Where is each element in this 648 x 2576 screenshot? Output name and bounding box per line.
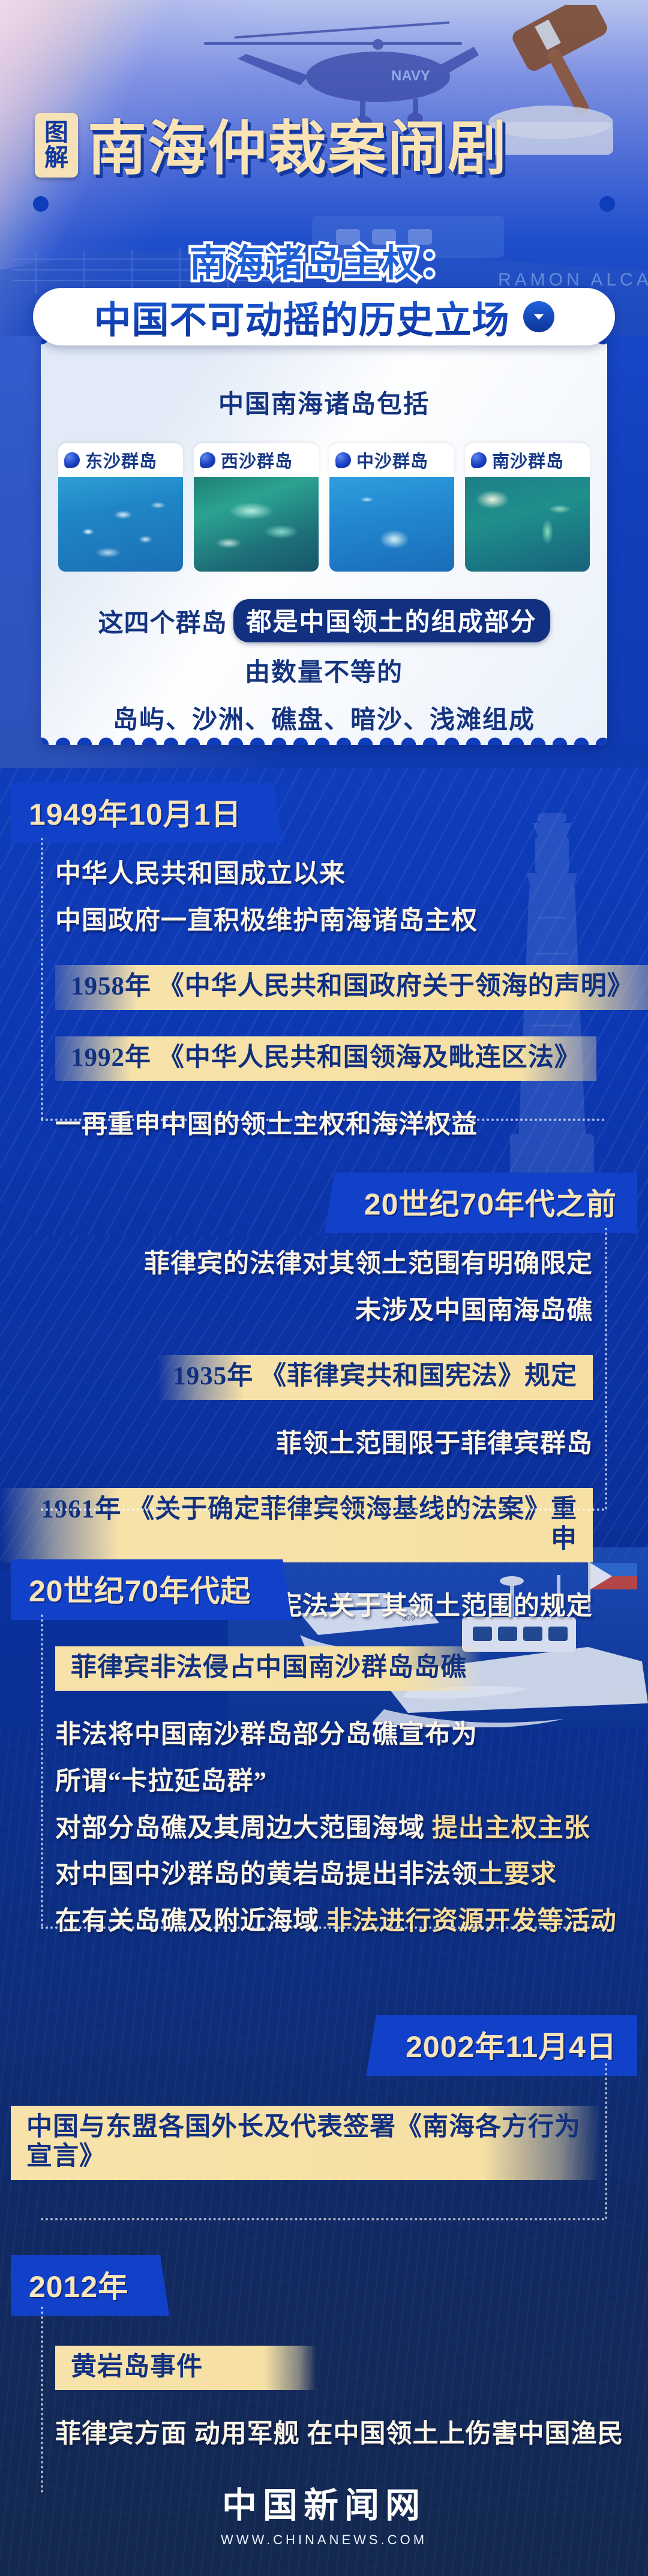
islands-card-heading: 中国南海诸岛包括: [41, 384, 607, 420]
timeline-date-badge: 2012年: [11, 2255, 149, 2316]
card-footer-plain: 这四个群岛: [98, 603, 227, 639]
island-item-zhongsha[interactable]: 中沙群岛: [329, 443, 454, 572]
map-pin-icon: [471, 452, 487, 468]
card-footer-line-3: 岛屿、沙洲、礁盘、暗沙、浅滩组成: [41, 699, 607, 736]
timeline-text: 菲律宾方面 动用军舰 在中国领土上伤害中国渔民: [55, 2419, 648, 2450]
timeline-text-accent: 提出主权主张: [425, 1814, 590, 1842]
subtitle-pill[interactable]: 中国不可动摇的历史立场: [33, 288, 615, 345]
island-label: 南沙群岛: [492, 447, 564, 473]
island-photo-nansha: [465, 477, 590, 572]
timeline-strip: 菲律宾非法侵占中国南沙群岛岛礁: [55, 1646, 482, 1691]
timeline-section-from1970s: 20世纪70年代起 菲律宾非法侵占中国南沙群岛岛礁 非法将中国南沙群岛部分岛礁宣…: [0, 1559, 648, 1952]
timeline-text: 在有关岛礁及附近海域 非法进行资源开发等活动: [55, 1906, 648, 1937]
timeline-connector-horizontal: [41, 1508, 605, 1511]
tujie-badge: 图 解: [35, 113, 78, 178]
chinanews-url: WWW.CHINANEWS.COM: [0, 2532, 648, 2548]
timeline-date-badge: 2002年11月4日: [388, 2015, 637, 2076]
subtitle-line-2: 中国不可动摇的历史立场: [94, 290, 509, 344]
map-pin-icon: [64, 452, 80, 468]
timeline-strip: 1961年 《关于确定菲律宾领海基线的法案》重申: [0, 1488, 593, 1562]
timeline-strip: 1992年 《中华人民共和国领海及毗连区法》: [55, 1036, 596, 1081]
timeline-text: 菲领土范围限于菲律宾群岛: [0, 1429, 593, 1460]
timeline-connector-horizontal: [41, 1926, 605, 1929]
island-photo-xisha: [194, 477, 319, 572]
island-item-xisha[interactable]: 西沙群岛: [194, 443, 319, 572]
timeline-section-1949: 1949年10月1日 中华人民共和国成立以来 中国政府一直积极维护南海诸岛主权 …: [0, 783, 648, 1156]
timeline-connector-vertical: [41, 838, 43, 1120]
island-photo-zhongsha: [329, 477, 454, 572]
island-item-nansha[interactable]: 南沙群岛: [465, 443, 590, 572]
chinanews-logo: 中国新闻网: [0, 2477, 648, 2527]
card-footer-line-2: 由数量不等的: [41, 652, 607, 689]
islands-card-footer: 这四个群岛 都是中国领土的组成部分 由数量不等的 岛屿、沙洲、礁盘、暗沙、浅滩组…: [41, 599, 607, 736]
card-notch-left: [33, 196, 49, 212]
timeline-text: 中国政府一直积极维护南海诸岛主权: [55, 906, 648, 937]
island-item-dongsha[interactable]: 东沙群岛: [58, 443, 183, 572]
timeline-strip: 1958年 《中华人民共和国政府关于领海的声明》: [55, 965, 648, 1009]
timeline-section-2002: 2002年11月4日 中国与东盟各国外长及代表签署《南海各方行为宣言》: [0, 2015, 648, 2193]
poster-title-row: 图 解 南海仲裁案闹剧: [35, 113, 508, 178]
timeline-date-badge: 1949年10月1日: [11, 783, 262, 843]
timeline-strip: 黄岩岛事件: [55, 2346, 317, 2390]
timeline-text: 一再重申中国的领土主权和海洋权益: [55, 1110, 648, 1141]
timeline-date-badge: 20世纪70年代之前: [346, 1173, 637, 1233]
site-footer: 中国新闻网 WWW.CHINANEWS.COM: [0, 2477, 648, 2548]
timeline-text: 所谓“卡拉延岛群”: [55, 1766, 648, 1798]
island-label: 西沙群岛: [221, 447, 293, 473]
timeline-text: 非法将中国南沙群岛部分岛礁宣布为: [55, 1720, 648, 1751]
timeline-text: 未涉及中国南海岛礁: [0, 1295, 593, 1327]
islands-card: 中国南海诸岛包括 东沙群岛 西沙群岛 中沙群岛: [41, 337, 607, 745]
timeline-connector-horizontal: [41, 2218, 605, 2220]
islands-row: 东沙群岛 西沙群岛 中沙群岛: [41, 443, 607, 572]
timeline-strip: 中国与东盟各国外长及代表签署《南海各方行为宣言》: [11, 2106, 601, 2180]
island-photo-dongsha: [58, 477, 183, 572]
timeline-text: 菲律宾的法律对其领土范围有明确限定: [0, 1249, 593, 1280]
timeline-connector-horizontal: [41, 1119, 605, 1121]
timeline-text-accent: 土要求: [478, 1860, 557, 1889]
timeline-strip: 1935年 《菲律宾共和国宪法》规定: [157, 1355, 593, 1399]
card-footer-highlight: 都是中国领土的组成部分: [233, 599, 550, 642]
subtitle-line-1: 南海诸岛主权：: [0, 233, 648, 287]
timeline-text-accent: 非法进行资源开发等活动: [326, 1907, 617, 1935]
timeline-date-badge: 20世纪70年代起: [11, 1559, 271, 1620]
timeline-connector-vertical: [41, 2307, 43, 2493]
map-pin-icon: [335, 452, 352, 468]
timeline-text: 对中国中沙群岛的黄岩岛提出非法领土要求: [55, 1859, 648, 1890]
timeline-section-2012: 2012年 黄岩岛事件 菲律宾方面 动用军舰 在中国领土上伤害中国渔民: [0, 2255, 648, 2466]
infographic-poster: NAVY: [0, 0, 648, 2576]
timeline-text: 中华人民共和国成立以来: [55, 859, 648, 890]
tujie-char-1: 图: [44, 120, 68, 145]
island-label: 东沙群岛: [85, 447, 157, 473]
card-notch-right: [599, 196, 615, 212]
timeline-connector-vertical: [605, 2063, 607, 2219]
tujie-char-2: 解: [44, 145, 68, 170]
page-title: 南海仲裁案闹剧: [88, 119, 508, 178]
island-label: 中沙群岛: [356, 447, 428, 473]
map-pin-icon: [200, 452, 216, 468]
timeline-text: 对部分岛礁及其周边大范围海域 提出主权主张: [55, 1813, 648, 1844]
svg-text:NAVY: NAVY: [391, 68, 430, 84]
timeline-connector-vertical: [605, 1228, 607, 1510]
chevron-down-icon[interactable]: [523, 301, 554, 332]
timeline-connector-vertical: [41, 1615, 43, 1926]
